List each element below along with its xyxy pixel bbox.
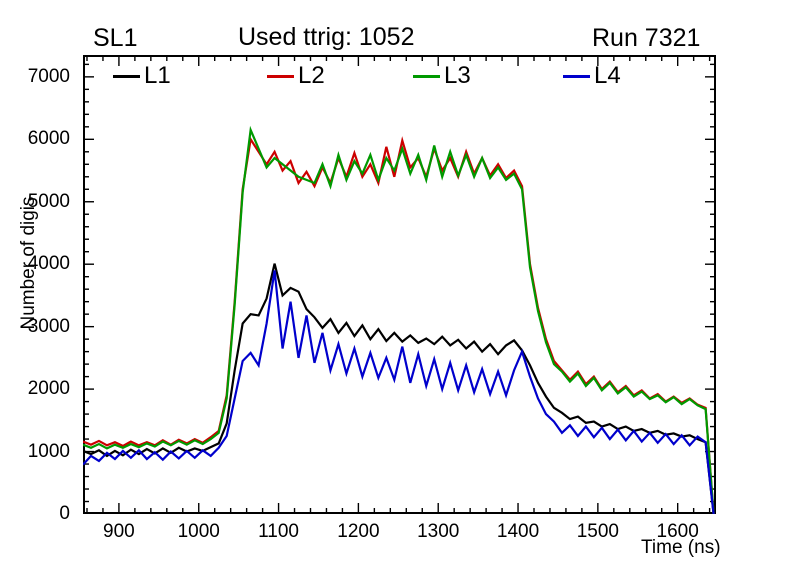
y-tick-label: 6000 [0,129,70,148]
x-tick-label: 1100 [234,522,324,541]
legend-label: L4 [594,63,621,89]
x-tick-label: 1600 [633,522,723,541]
legend-swatch-icon [267,75,294,78]
ttrig-label: Used ttrig: 1052 [238,25,415,50]
y-tick-label: 3000 [0,317,70,336]
x-tick-label: 1200 [313,522,403,541]
y-tick-label: 2000 [0,379,70,398]
chart-canvas [83,55,716,514]
y-tick-label: 0 [0,504,70,523]
run-number-label: Run 7321 [592,26,700,51]
y-tick-label: 1000 [0,442,70,461]
legend-label: L2 [298,63,325,89]
superlayer-label: SL1 [93,26,137,51]
x-tick-label: 1400 [473,522,563,541]
legend-swatch-icon [113,75,140,78]
y-tick-label: 4000 [0,254,70,273]
y-tick-label: 5000 [0,192,70,211]
legend-swatch-icon [563,75,590,78]
legend-label: L1 [144,63,171,89]
y-tick-label: 7000 [0,67,70,86]
legend-swatch-icon [413,75,440,78]
legend: L1L2L3L4 [113,63,613,91]
series-line-l1 [83,264,714,514]
legend-label: L3 [444,63,471,89]
x-tick-label: 900 [74,522,164,541]
x-tick-label: 1500 [553,522,643,541]
x-tick-label: 1000 [154,522,244,541]
x-tick-label: 1300 [393,522,483,541]
